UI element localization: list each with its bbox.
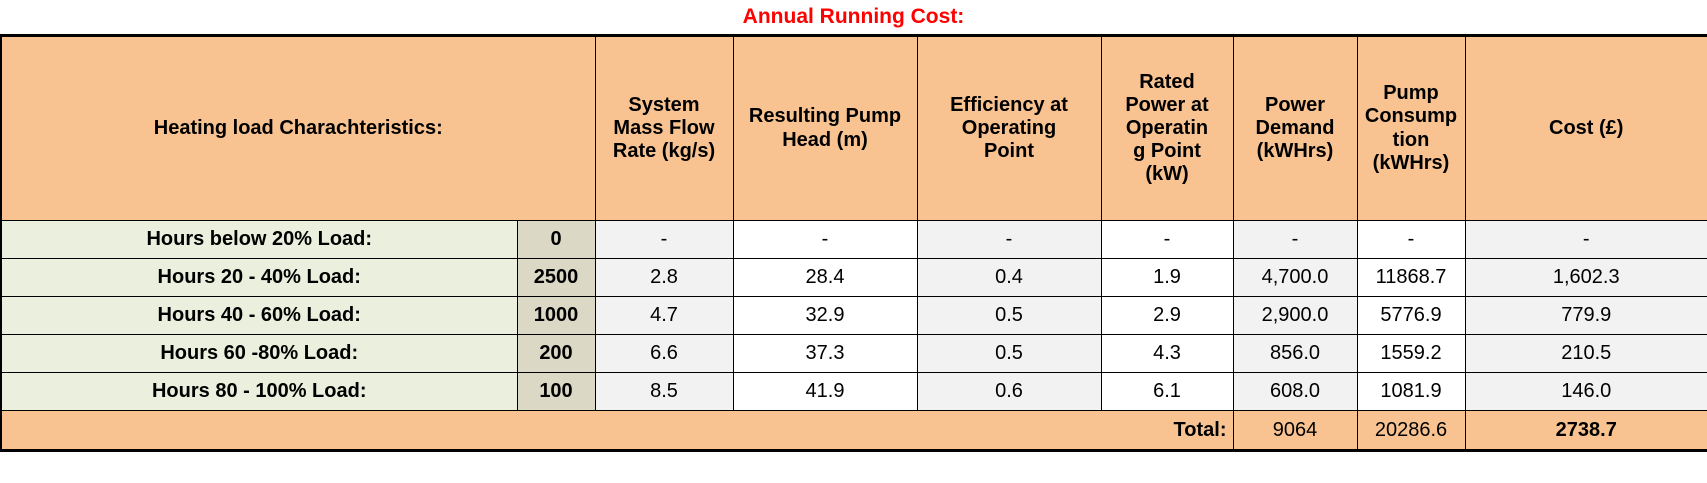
header-resulting-pump-head: Resulting Pump Head (m) [733,36,917,221]
header-line: Efficiency at [950,94,1068,116]
cell-cost: 210.5 [1465,335,1707,373]
table-row: Hours 20 - 40% Load: 2500 2.8 28.4 0.4 1… [1,259,1707,297]
cell-pump-consumption: 1081.9 [1357,373,1465,411]
table-header-row: Heating load Charachteristics: System Ma… [1,36,1707,221]
cell-pump-consumption: 11868.7 [1357,259,1465,297]
total-power-demand: 9064 [1233,411,1357,451]
header-line: Point [984,140,1034,162]
cell-rated-power: - [1101,221,1233,259]
row-label-hours-60-80: Hours 60 -80% Load: [1,335,517,373]
cell-power-demand: 2,900.0 [1233,297,1357,335]
cell-efficiency: 0.5 [917,297,1101,335]
cell-system-mass-flow-rate: 8.5 [595,373,733,411]
row-label-hours-40-60: Hours 40 - 60% Load: [1,297,517,335]
cell-pump-consumption: 1559.2 [1357,335,1465,373]
header-line: Rated [1139,71,1195,93]
header-line: (kW) [1145,163,1188,185]
cell-efficiency: - [917,221,1101,259]
total-pump-consumption: 20286.6 [1357,411,1465,451]
header-line: Demand [1256,117,1335,139]
header-line: Operating [962,117,1056,139]
cell-resulting-pump-head: 28.4 [733,259,917,297]
table-total-row: Total: 9064 20286.6 2738.7 [1,411,1707,451]
cell-power-demand: 4,700.0 [1233,259,1357,297]
cell-system-mass-flow-rate: 2.8 [595,259,733,297]
cell-system-mass-flow-rate: - [595,221,733,259]
header-line: System [628,94,699,116]
total-label: Total: [1,411,1233,451]
cell-power-demand: 608.0 [1233,373,1357,411]
header-line: Resulting Pump [749,105,901,127]
header-line: Mass Flow [613,117,714,139]
cell-rated-power: 1.9 [1101,259,1233,297]
annual-running-cost-table: Heating load Charachteristics: System Ma… [0,34,1707,452]
cell-rated-power: 4.3 [1101,335,1233,373]
header-line: Power [1265,94,1325,116]
row-label-hours-below-20: Hours below 20% Load: [1,221,517,259]
header-line: g Point [1133,140,1201,162]
row-label-hours-20-40: Hours 20 - 40% Load: [1,259,517,297]
header-rated-power-at-operating-point: Rated Power at Operatin g Point (kW) [1101,36,1233,221]
table-row: Hours 40 - 60% Load: 1000 4.7 32.9 0.5 2… [1,297,1707,335]
cell-cost: 779.9 [1465,297,1707,335]
header-power-demand: Power Demand (kWHrs) [1233,36,1357,221]
cell-system-mass-flow-rate: 6.6 [595,335,733,373]
spreadsheet-root: Annual Running Cost: Heating load Charac… [0,0,1707,483]
cell-pump-consumption: 5776.9 [1357,297,1465,335]
cell-rated-power: 2.9 [1101,297,1233,335]
header-line: Consump [1365,105,1457,127]
table-row: Hours 80 - 100% Load: 100 8.5 41.9 0.6 6… [1,373,1707,411]
header-line: (kWHrs) [1257,140,1334,162]
header-line: Power at [1125,94,1208,116]
row-label-hours-80-100: Hours 80 - 100% Load: [1,373,517,411]
header-cost: Cost (£) [1465,36,1707,221]
table-row: Hours 60 -80% Load: 200 6.6 37.3 0.5 4.3… [1,335,1707,373]
cell-resulting-pump-head: - [733,221,917,259]
header-line: Head (m) [782,129,868,151]
header-line: Operatin [1126,117,1208,139]
header-system-mass-flow-rate: System Mass Flow Rate (kg/s) [595,36,733,221]
row-hours-value[interactable]: 200 [517,335,595,373]
cell-pump-consumption: - [1357,221,1465,259]
header-line: Rate (kg/s) [613,140,715,162]
header-line: tion [1393,129,1430,151]
cell-cost: 146.0 [1465,373,1707,411]
header-line: (kWHrs) [1373,152,1450,174]
cell-efficiency: 0.6 [917,373,1101,411]
cell-power-demand: 856.0 [1233,335,1357,373]
cell-cost: - [1465,221,1707,259]
cell-resulting-pump-head: 37.3 [733,335,917,373]
cell-resulting-pump-head: 41.9 [733,373,917,411]
row-hours-value[interactable]: 2500 [517,259,595,297]
cell-resulting-pump-head: 32.9 [733,297,917,335]
header-pump-consumption: Pump Consump tion (kWHrs) [1357,36,1465,221]
header-line: Cost (£) [1549,117,1623,139]
cell-rated-power: 6.1 [1101,373,1233,411]
cell-cost: 1,602.3 [1465,259,1707,297]
table-row: Hours below 20% Load: 0 - - - - - - - [1,221,1707,259]
row-hours-value[interactable]: 1000 [517,297,595,335]
row-hours-value[interactable]: 100 [517,373,595,411]
header-efficiency-at-operating-point: Efficiency at Operating Point [917,36,1101,221]
cell-efficiency: 0.5 [917,335,1101,373]
row-hours-value[interactable]: 0 [517,221,595,259]
header-line: Pump [1383,82,1439,104]
page-title: Annual Running Cost: [0,0,1707,34]
cell-power-demand: - [1233,221,1357,259]
total-cost: 2738.7 [1465,411,1707,451]
cell-efficiency: 0.4 [917,259,1101,297]
header-heating-load-characteristics: Heating load Charachteristics: [1,36,595,221]
cell-system-mass-flow-rate: 4.7 [595,297,733,335]
